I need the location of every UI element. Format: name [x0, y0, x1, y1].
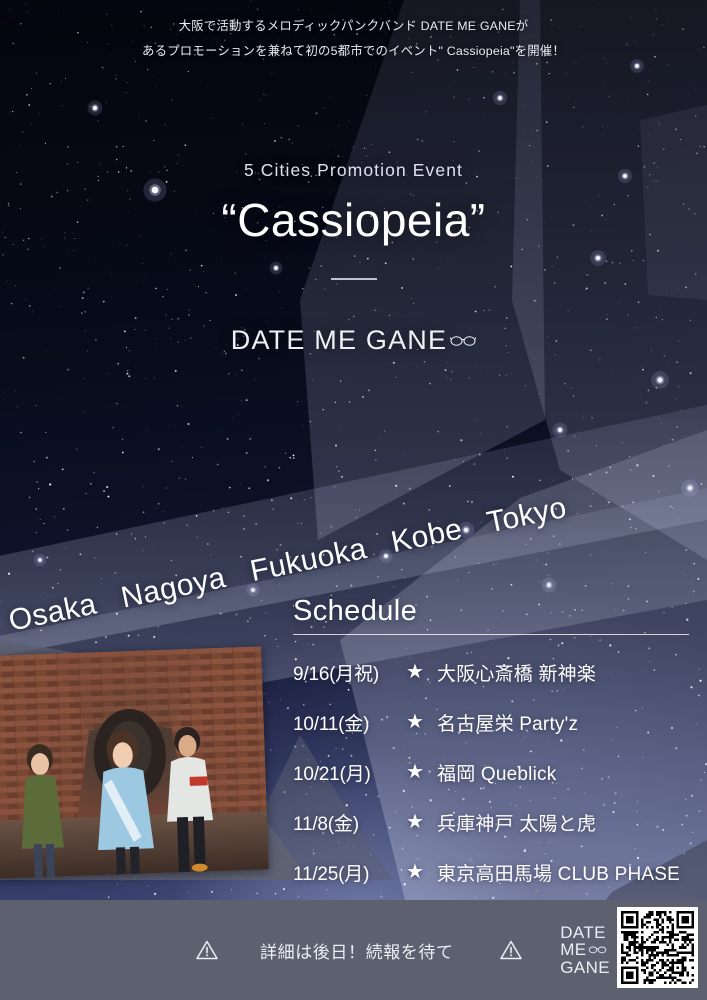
band-photo: [0, 646, 269, 878]
brand-logo: DATE ME GANE: [560, 924, 610, 977]
schedule-row: 9/16(月祝)★大阪心斎橋 新神楽: [293, 647, 689, 697]
logo-row-3: GANE: [560, 959, 610, 977]
schedule-venue: 大阪心斎橋 新神楽: [437, 659, 689, 686]
page-title: “Cassiopeia”: [0, 193, 707, 247]
lede-copy: 大阪で活動するメロディックパンクバンド DATE ME GANEが あるプロモー…: [0, 14, 707, 64]
schedule-heading: Schedule: [293, 595, 689, 628]
schedule-venue: 福岡 Queblick: [437, 759, 689, 786]
band-name-lockup: DATE ME GANE: [0, 325, 707, 356]
schedule-date: 9/16(月祝): [293, 659, 393, 686]
glasses-icon: [450, 334, 476, 347]
glasses-icon-logo: [588, 945, 607, 954]
footer: 詳細は後日！続報を待て DATE ME GANE: [0, 882, 707, 1000]
band-name-text: DATE ME GANE: [231, 325, 447, 356]
lede-line-1: 大阪で活動するメロディックパンクバンド DATE ME GANEが: [0, 14, 707, 39]
title-divider: [331, 278, 377, 280]
schedule-divider: [293, 634, 689, 635]
logo-line-2: ME: [560, 941, 586, 959]
schedule-panel: Schedule 9/16(月祝)★大阪心斎橋 新神楽10/11(金)★名古屋栄…: [293, 595, 689, 897]
footer-note: 詳細は後日！続報を待て: [260, 938, 454, 963]
warning-triangle-icon: [196, 940, 218, 960]
logo-line-1: DATE: [560, 924, 606, 942]
schedule-row: 10/11(金)★名古屋栄 Party'z: [293, 697, 689, 747]
logo-line-3: GANE: [560, 959, 610, 977]
schedule-date: 10/11(金): [293, 709, 393, 736]
logo-row-2: ME: [560, 941, 610, 959]
star-icon: ★: [393, 712, 437, 732]
schedule-row: 11/8(金)★兵庫神戸 太陽と虎: [293, 797, 689, 847]
event-eyebrow: 5 Cities Promotion Event: [0, 160, 707, 181]
schedule-date: 11/8(金): [293, 809, 393, 836]
qr-code[interactable]: [617, 907, 698, 988]
warning-triangle-icon-right: [500, 940, 522, 960]
schedule-venue: 兵庫神戸 太陽と虎: [437, 809, 689, 836]
lede-line-2: あるプロモーションを兼ねて初の5都市でのイベント" Cassiopeia"を開催…: [0, 39, 707, 64]
schedule-row: 10/21(月)★福岡 Queblick: [293, 747, 689, 797]
schedule-rows: 9/16(月祝)★大阪心斎橋 新神楽10/11(金)★名古屋栄 Party'z1…: [293, 647, 689, 897]
schedule-date: 10/21(月): [293, 759, 393, 786]
band-photo-image: [0, 646, 269, 878]
schedule-venue: 名古屋栄 Party'z: [437, 709, 689, 736]
star-icon: ★: [393, 662, 437, 682]
star-icon: ★: [393, 812, 437, 832]
star-icon: ★: [393, 762, 437, 782]
poster-root: 大阪で活動するメロディックパンクバンド DATE ME GANEが あるプロモー…: [0, 0, 707, 1000]
logo-row-1: DATE: [560, 924, 610, 942]
star-icon: ★: [393, 862, 437, 882]
qr-code-icon: [621, 911, 694, 984]
